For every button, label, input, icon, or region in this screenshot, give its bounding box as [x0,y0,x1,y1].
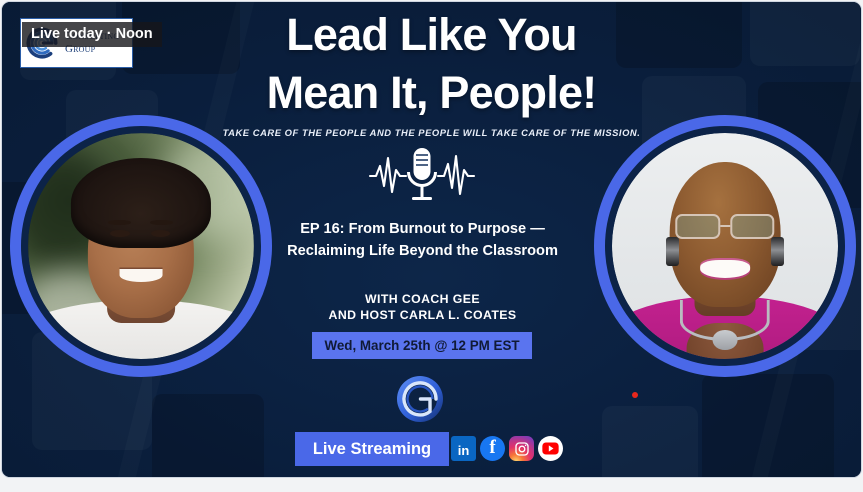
host-portrait-carla-l-coates [10,115,272,377]
screenshot-root: Lead Like You Mean It, People! TAKE CARE… [0,0,863,492]
linkedin-icon[interactable]: in [451,436,476,461]
cursor-dot [632,392,638,398]
live-streaming-button[interactable]: Live Streaming [295,432,449,466]
portrait-right-outer-ring [594,115,856,377]
event-date-badge: Wed, March 25th @ 12 PM EST [312,332,532,359]
episode-title: EP 16: From Burnout to Purpose — Reclaim… [270,218,575,262]
microphone-waveform-icon [368,144,476,206]
hosts-line-2: AND HOST CARLA L. COATES [270,308,575,324]
bg-tile [602,406,698,478]
social-links: in f [451,436,563,461]
guest-portrait-coach-gee [594,115,856,377]
promo-card: Lead Like You Mean It, People! TAKE CARE… [1,1,862,478]
facebook-icon[interactable]: f [480,436,505,461]
g-circle-logo-icon [394,373,446,425]
title-line-2: Mean It, People! [2,64,861,122]
instagram-icon[interactable] [509,436,534,461]
youtube-icon[interactable] [538,436,563,461]
bg-tile [152,394,264,478]
live-today-badge: Live today · Noon [22,22,162,47]
episode-hosts: WITH COACH GEE AND HOST CARLA L. COATES [270,292,575,323]
hosts-line-1: WITH COACH GEE [270,292,575,308]
portrait-left-outer-ring [10,115,272,377]
tagline: TAKE CARE OF THE PEOPLE AND THE PEOPLE W… [2,127,861,138]
